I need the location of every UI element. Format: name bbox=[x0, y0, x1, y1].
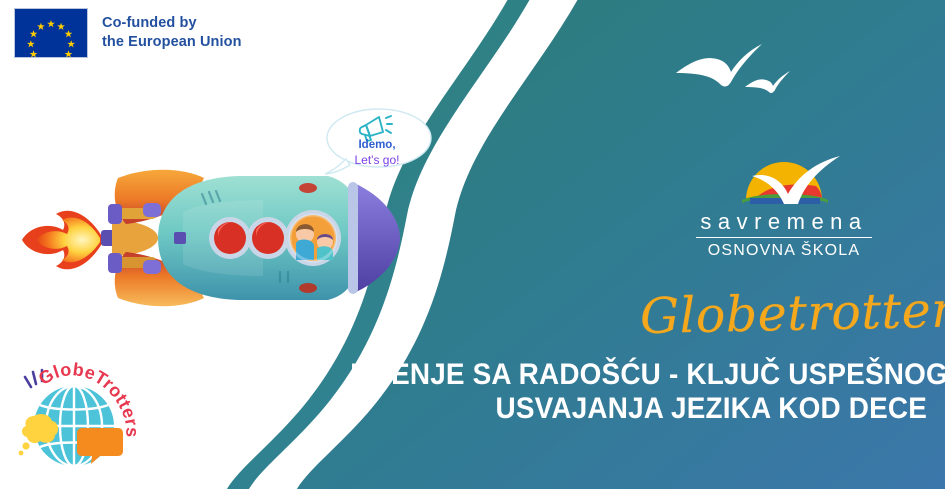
eu-flag-icon bbox=[14, 8, 88, 58]
bubble-line-idemo: Idemo, bbox=[322, 139, 432, 153]
rocket-flame-icon bbox=[22, 211, 103, 270]
rocket-light-bottom bbox=[299, 283, 317, 293]
savremena-subtitle: OSNOVNA ŠKOLA bbox=[694, 242, 874, 260]
globetrotters-script-title: Globetrotters bbox=[640, 286, 941, 341]
savremena-wordmark: savremena bbox=[696, 210, 872, 238]
eu-text-line2: the European Union bbox=[102, 33, 242, 52]
promo-banner: Co-funded by the European Union bbox=[0, 0, 945, 489]
eu-stars bbox=[27, 20, 75, 57]
eu-funding-badge: Co-funded by the European Union bbox=[14, 8, 242, 58]
rocket-engine bbox=[112, 220, 158, 256]
rocket-bracket-top bbox=[108, 204, 122, 224]
headline-line2: USVAJANJA JEZIKA KOD DECE bbox=[350, 392, 927, 426]
rocket-hatch bbox=[174, 232, 186, 244]
rocket-nose-ring bbox=[348, 182, 358, 294]
savremena-logo: savremena OSNOVNA ŠKOLA bbox=[694, 128, 874, 260]
rocket-block-top bbox=[143, 203, 161, 217]
rocket-nose-cone bbox=[356, 184, 400, 292]
rocket-bracket-bottom bbox=[108, 253, 122, 273]
bubble-text: Idemo, Let's go! bbox=[322, 139, 432, 167]
rocket-cockpit-window bbox=[285, 210, 341, 266]
eu-funding-text: Co-funded by the European Union bbox=[102, 14, 242, 52]
headline: UČENJE SA RADOŠĆU - KLJUČ USPEŠNOG USVAJ… bbox=[350, 358, 927, 426]
speech-bubble: Idemo, Let's go! bbox=[322, 105, 432, 181]
eu-text-line1: Co-funded by bbox=[102, 14, 242, 33]
rocket-light-top bbox=[299, 183, 317, 193]
headline-line1: UČENJE SA RADOŠĆU - KLJUČ USPEŠNOG bbox=[350, 358, 927, 392]
bubble-line-letsgo: Let's go! bbox=[322, 153, 432, 167]
sun-bird-icon bbox=[694, 128, 874, 206]
globetrotters-logo: GlobeTrotters bbox=[12, 360, 137, 482]
rocket-block-bottom bbox=[143, 260, 161, 274]
